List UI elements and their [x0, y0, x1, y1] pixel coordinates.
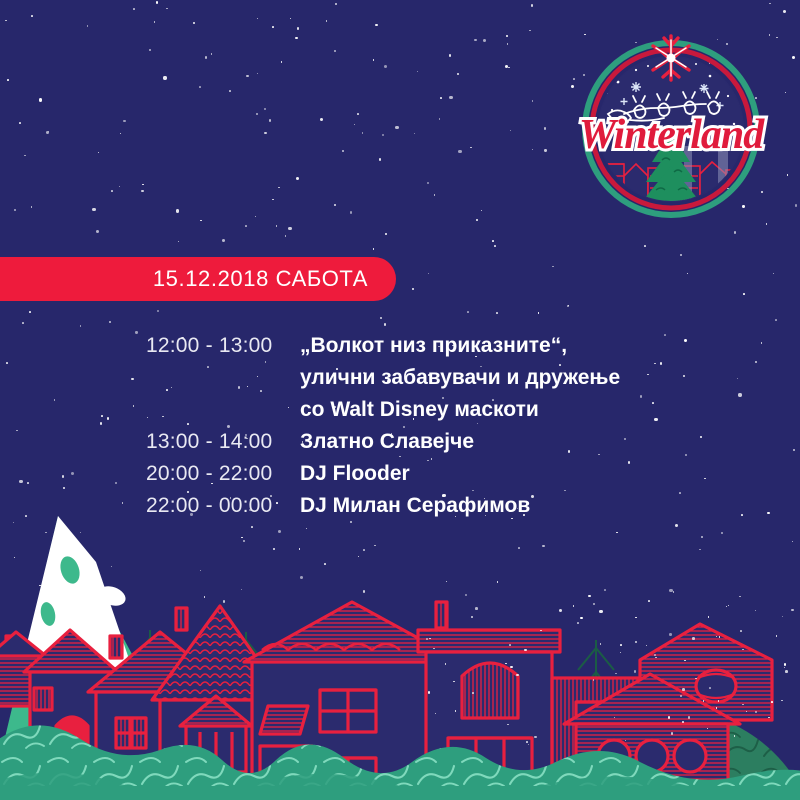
star-dot: [24, 155, 26, 157]
star-dot: [792, 56, 795, 59]
star-dot: [453, 681, 455, 683]
star-dot: [573, 78, 575, 80]
star-dot: [384, 323, 386, 325]
star-dot: [671, 732, 674, 735]
star-dot: [385, 233, 387, 235]
star-dot: [115, 482, 117, 484]
winterland-event-poster: Winterland 15.12.2018 САБОТА 12:00 - 13:…: [0, 0, 800, 800]
star-dot: [92, 208, 95, 211]
star-dot: [272, 26, 274, 28]
star-dot: [483, 39, 486, 42]
star-dot: [257, 73, 259, 75]
star-dot: [769, 34, 771, 36]
star-dot: [417, 71, 419, 73]
star-dot: [680, 254, 682, 256]
star-dot: [552, 266, 554, 268]
star-dot: [734, 735, 736, 737]
star-dot: [740, 630, 742, 632]
star-dot: [256, 113, 258, 115]
star-dot: [766, 223, 768, 225]
star-dot: [80, 325, 82, 327]
event-description-line: улични забавувачи и дружење: [300, 362, 620, 394]
star-dot: [257, 18, 259, 20]
star-dot: [475, 607, 478, 610]
star-dot: [507, 43, 509, 45]
star-dot: [133, 8, 135, 10]
date-text: 15.12.2018 САБОТА: [153, 266, 368, 292]
star-dot: [272, 199, 274, 201]
star-dot: [412, 288, 414, 290]
star-dot: [354, 124, 356, 126]
star-dot: [615, 673, 617, 675]
star-dot: [474, 39, 476, 41]
star-dot: [783, 10, 786, 13]
star-dot: [573, 605, 575, 607]
star-dot: [285, 235, 287, 237]
star-dot: [470, 147, 472, 149]
star-dot: [178, 241, 180, 243]
star-dot: [111, 190, 113, 192]
star-dot: [433, 648, 435, 650]
star-dot: [96, 230, 99, 233]
star-dot: [63, 487, 65, 489]
list-item: 22:00 - 00:00 DJ Милан Серафимов: [146, 490, 746, 522]
star-dot: [510, 130, 512, 132]
star-dot: [743, 293, 745, 295]
star-dot: [529, 30, 531, 32]
star-dot: [538, 312, 540, 314]
star-dot: [544, 127, 546, 129]
star-dot: [362, 132, 364, 134]
star-dot: [334, 50, 336, 52]
star-dot: [193, 22, 195, 24]
star-dot: [31, 15, 33, 17]
star-dot: [532, 149, 534, 151]
star-dot: [472, 692, 474, 694]
star-dot: [734, 231, 736, 233]
star-dot: [296, 177, 299, 180]
star-dot: [109, 321, 111, 323]
event-description-line: со Walt Disney маскоти: [300, 394, 620, 426]
star-dot: [776, 37, 778, 39]
star-dot: [771, 701, 773, 703]
star-dot: [246, 75, 248, 77]
star-dot: [211, 53, 213, 55]
event-description: Златно Славејче: [300, 426, 474, 458]
star-dot: [156, 1, 158, 3]
star-dot: [19, 480, 22, 483]
star-dot: [434, 194, 436, 196]
star-dot: [163, 76, 166, 79]
star-dot: [290, 18, 292, 20]
star-dot: [154, 21, 156, 23]
schedule-list: 12:00 - 13:00 „Волкот низ приказните“, у…: [146, 330, 746, 522]
star-dot: [648, 600, 650, 602]
star-dot: [31, 206, 33, 208]
star-dot: [6, 362, 8, 364]
star-dot: [245, 225, 247, 227]
star-dot: [773, 273, 775, 275]
star-dot: [100, 422, 102, 424]
star-dot: [494, 245, 496, 247]
svg-text:Winterland: Winterland: [579, 112, 765, 158]
star-dot: [496, 312, 498, 314]
star-dot: [119, 186, 121, 188]
star-dot: [428, 273, 430, 275]
star-dot: [384, 65, 387, 68]
star-dot: [264, 108, 266, 110]
star-dot: [508, 67, 510, 69]
star-dot: [492, 240, 494, 242]
star-dot: [742, 704, 744, 706]
star-dot: [635, 617, 637, 619]
star-dot: [692, 637, 695, 640]
star-dot: [761, 342, 763, 344]
star-dot: [795, 204, 797, 206]
star-dot: [532, 100, 534, 102]
star-dot: [382, 134, 384, 136]
event-description: „Волкот низ приказните“, улични забавува…: [300, 330, 620, 426]
star-dot: [568, 305, 570, 307]
star-dot: [357, 113, 359, 115]
star-dot: [593, 679, 595, 681]
star-dot: [755, 361, 757, 363]
star-dot: [141, 190, 143, 192]
list-item: 12:00 - 13:00 „Волкот низ приказните“, у…: [146, 330, 746, 426]
star-dot: [199, 86, 201, 88]
star-dot: [157, 310, 159, 312]
star-dot: [16, 430, 18, 432]
star-dot: [719, 636, 721, 638]
star-dot: [62, 475, 64, 477]
winterland-wordmark: Winterland: [579, 112, 765, 158]
star-dot: [326, 20, 328, 22]
star-dot: [531, 4, 533, 6]
star-dot: [288, 227, 291, 230]
star-dot: [709, 687, 711, 689]
star-dot: [439, 118, 441, 120]
star-dot: [373, 59, 375, 61]
star-dot: [507, 724, 509, 726]
star-dot: [205, 56, 207, 58]
event-time: 13:00 - 14:00: [146, 426, 300, 458]
star-dot: [276, 225, 278, 227]
star-dot: [19, 122, 21, 124]
star-dot: [375, 24, 377, 26]
star-dot: [229, 90, 231, 92]
star-dot: [295, 37, 297, 39]
star-dot: [281, 61, 283, 63]
list-item: 20:00 - 22:00 DJ Flooder: [146, 458, 746, 490]
star-dot: [669, 633, 672, 636]
star-dot: [644, 245, 646, 247]
star-dot: [71, 472, 74, 475]
bottom-teal-strip: [0, 786, 800, 800]
star-dot: [634, 670, 637, 673]
star-dot: [166, 8, 168, 10]
star-dot: [22, 322, 24, 324]
star-dot: [87, 25, 89, 27]
star-dot: [122, 502, 124, 504]
star-dot: [200, 220, 202, 222]
star-dot: [449, 96, 452, 99]
star-dot: [101, 415, 103, 417]
star-dot: [445, 663, 447, 665]
star-dot: [785, 670, 788, 673]
star-dot: [373, 248, 375, 250]
star-dot: [534, 736, 537, 739]
winter-village-illustration: [0, 510, 800, 800]
star-dot: [785, 92, 787, 94]
star-dot: [682, 688, 685, 691]
event-time: 20:00 - 22:00: [146, 458, 300, 490]
star-dot: [278, 187, 280, 189]
event-time: 22:00 - 00:00: [146, 490, 300, 522]
star-dot: [620, 644, 622, 646]
star-dot: [379, 158, 381, 160]
star-dot: [255, 216, 257, 218]
winterland-logo-badge[interactable]: Winterland: [578, 36, 764, 222]
star-dot: [687, 273, 689, 275]
star-dot: [98, 152, 100, 154]
star-dot: [264, 132, 266, 134]
star-dot: [27, 482, 29, 484]
star-dot: [449, 54, 451, 56]
star-dot: [342, 150, 344, 152]
star-dot: [297, 27, 299, 29]
star-dot: [350, 211, 352, 213]
star-dot: [426, 638, 428, 640]
star-dot: [222, 239, 225, 242]
star-dot: [54, 399, 56, 401]
star-dot: [654, 654, 656, 656]
star-dot: [269, 119, 271, 121]
star-dot: [133, 405, 135, 407]
star-dot: [509, 644, 511, 646]
star-dot: [769, 3, 771, 5]
event-description-line: DJ Flooder: [300, 458, 410, 490]
star-dot: [107, 417, 109, 419]
star-dot: [775, 319, 777, 321]
star-dot: [149, 49, 151, 51]
star-dot: [142, 184, 144, 186]
event-description: DJ Flooder: [300, 458, 410, 490]
event-description: DJ Милан Серафимов: [300, 490, 530, 522]
star-dot: [680, 695, 682, 697]
star-dot: [467, 311, 469, 313]
star-dot: [510, 666, 513, 669]
star-dot: [793, 449, 795, 451]
star-dot: [776, 635, 778, 637]
star-dot: [335, 3, 337, 5]
star-dot: [29, 311, 31, 313]
star-dot: [395, 126, 398, 129]
date-banner: 15.12.2018 САБОТА: [0, 257, 396, 301]
event-time: 12:00 - 13:00: [146, 330, 300, 362]
star-dot: [458, 150, 461, 153]
star-dot: [427, 182, 429, 184]
list-item: 13:00 - 14:00 Златно Славејче: [146, 426, 746, 458]
star-dot: [505, 663, 507, 665]
star-dot: [39, 98, 42, 101]
star-dot: [787, 174, 789, 176]
star-dot: [176, 209, 179, 212]
star-dot: [457, 73, 459, 75]
star-dot: [428, 691, 431, 694]
star-dot: [120, 133, 122, 135]
star-dot: [135, 331, 137, 333]
event-description-line: „Волкот низ приказните“,: [300, 330, 620, 362]
star-dot: [320, 118, 323, 121]
star-dot: [571, 85, 574, 88]
star-dot: [334, 204, 336, 206]
event-description-line: DJ Милан Серафимов: [300, 490, 530, 522]
star-dot: [131, 378, 133, 380]
star-dot: [526, 741, 528, 743]
star-dot: [577, 622, 579, 624]
star-dot: [440, 97, 442, 99]
star-dot: [7, 79, 9, 81]
star-dot: [481, 210, 483, 212]
star-dot: [506, 35, 508, 37]
event-description-line: Златно Славејче: [300, 426, 474, 458]
star-dot: [544, 149, 546, 151]
star-dot: [123, 120, 125, 122]
star-dot: [476, 219, 478, 221]
star-dot: [414, 133, 416, 135]
star-dot: [380, 317, 382, 319]
star-dot: [14, 209, 16, 211]
star-dot: [5, 20, 7, 22]
